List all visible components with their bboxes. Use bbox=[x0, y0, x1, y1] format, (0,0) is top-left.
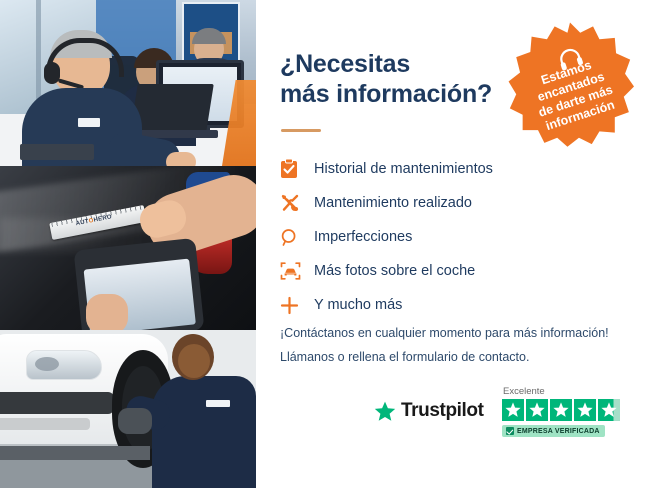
star-rating bbox=[502, 399, 634, 421]
content-panel: ¿Necesitasmás información? Estamos encan… bbox=[256, 0, 650, 488]
verified-business-badge: EMPRESA VERIFICADA bbox=[502, 425, 605, 437]
star-1 bbox=[502, 399, 524, 421]
photo-mechanic-wheel bbox=[0, 330, 256, 488]
tools-icon bbox=[280, 193, 314, 213]
list-item-label: Y mucho más bbox=[314, 297, 402, 313]
check-icon bbox=[506, 427, 514, 435]
verified-label: EMPRESA VERIFICADA bbox=[517, 428, 600, 435]
feature-list: Historial de mantenimientos Mantenimient… bbox=[280, 152, 580, 322]
star-2 bbox=[526, 399, 548, 421]
contact-copy: ¡Contáctanos en cualquier momento para m… bbox=[280, 324, 640, 372]
list-item: Historial de mantenimientos bbox=[280, 152, 580, 186]
trustpilot-star-icon bbox=[374, 401, 396, 422]
trustpilot-wordmark: Trustpilot bbox=[401, 400, 484, 422]
photo-car-inspection: AUTOHERO bbox=[0, 166, 256, 330]
list-item: Y mucho más bbox=[280, 288, 580, 322]
trustpilot-rating: Excelente EMPRESA VERIFICADA bbox=[502, 386, 634, 440]
contact-line-1: ¡Contáctanos en cualquier momento para m… bbox=[280, 324, 640, 342]
list-item-label: Más fotos sobre el coche bbox=[314, 263, 475, 279]
promo-badge: Estamos encantados de darte más informac… bbox=[506, 20, 634, 148]
promo-banner: AUTOHERO ¿Necesitasmás información? bbox=[0, 0, 650, 488]
list-item-label: Historial de mantenimientos bbox=[314, 161, 493, 177]
list-item: Mantenimiento realizado bbox=[280, 186, 580, 220]
page-title: ¿Necesitasmás información? bbox=[280, 50, 530, 109]
list-item: Imperfecciones bbox=[280, 220, 580, 254]
trustpilot-widget[interactable]: Trustpilot Excelente EMPRESA VERIFICADA bbox=[374, 386, 634, 448]
list-item-label: Imperfecciones bbox=[314, 229, 412, 245]
headline-line-2: más información? bbox=[280, 80, 492, 108]
list-item: Más fotos sobre el coche bbox=[280, 254, 580, 288]
list-item-label: Mantenimiento realizado bbox=[314, 195, 472, 211]
car-photo-frame-icon bbox=[280, 261, 314, 281]
plus-icon bbox=[280, 296, 314, 315]
magnifier-icon bbox=[280, 228, 314, 247]
rating-label: Excelente bbox=[503, 386, 634, 397]
star-4 bbox=[574, 399, 596, 421]
star-5-partial bbox=[598, 399, 620, 421]
contact-line-2: Llámanos o rellena el formulario de cont… bbox=[280, 348, 640, 366]
title-divider bbox=[281, 129, 321, 132]
clipboard-check-icon bbox=[280, 159, 314, 179]
star-3 bbox=[550, 399, 572, 421]
photo-call-center bbox=[0, 0, 256, 166]
headline-line-1: ¿Necesitas bbox=[280, 50, 410, 78]
trustpilot-logo: Trustpilot bbox=[374, 400, 484, 422]
photo-column: AUTOHERO bbox=[0, 0, 256, 488]
